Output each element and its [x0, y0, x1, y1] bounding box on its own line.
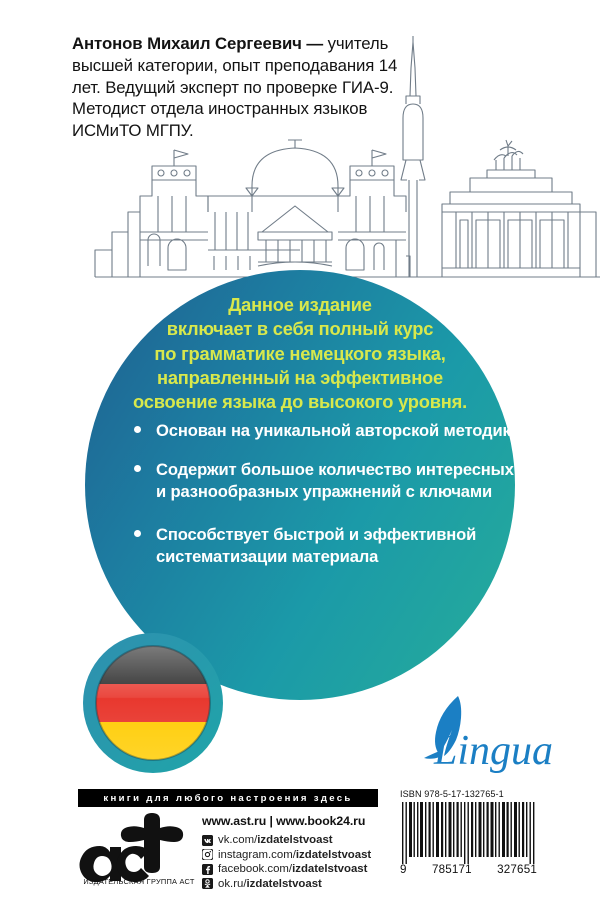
social-handle: izdatelstvoast	[247, 878, 322, 890]
ok-icon	[202, 878, 213, 889]
headline-line: направленный на эффективное	[60, 366, 540, 390]
barcode	[400, 802, 537, 864]
isbn-block: ISBN 978-5-17-132765-1	[400, 789, 540, 876]
social-handle: izdatelstvoast	[292, 863, 367, 875]
social-prefix: vk.com/	[218, 834, 257, 846]
social-prefix: facebook.com/	[218, 863, 292, 875]
social-link-instagram[interactable]: instagram.com/izdatelstvoast	[202, 849, 432, 861]
headline-line: включает в себя полный курс	[60, 317, 540, 341]
publisher-links: www.ast.ru | www.book24.ru vk.com/izdate…	[202, 814, 432, 892]
list-item: Содержит большое количество интересных и…	[128, 459, 528, 502]
headline-line: по грамматике немецкого языка,	[60, 342, 540, 366]
website-urls[interactable]: www.ast.ru | www.book24.ru	[202, 814, 432, 828]
social-prefix: instagram.com/	[218, 849, 296, 861]
list-item: Основан на уникальной авторской методике	[128, 420, 528, 441]
isbn-label: ISBN 978-5-17-132765-1	[400, 789, 540, 799]
vk-icon	[202, 835, 213, 846]
social-handle: izdatelstvoast	[296, 849, 371, 861]
promo-headline: Данное издание включает в себя полный ку…	[60, 293, 540, 415]
social-link-vk[interactable]: vk.com/izdatelstvoast	[202, 834, 432, 846]
headline-line: Данное издание	[60, 293, 540, 317]
barcode-digits: 9 785171 327651	[400, 863, 537, 876]
publisher-banner: книги для любого настроения здесь	[78, 789, 378, 807]
social-link-ok[interactable]: ok.ru/izdatelstvoast	[202, 878, 432, 890]
instagram-icon	[202, 849, 213, 860]
promo-bullets: Основан на уникальной авторской методике…	[128, 420, 528, 585]
barcode-digit-right: 327651	[497, 863, 537, 876]
lingua-logo: Lingua	[406, 688, 566, 778]
headline-line: освоение языка до высокого уровня.	[60, 390, 540, 414]
german-flag-badge	[78, 628, 228, 778]
barcode-digit-mid: 785171	[432, 863, 472, 876]
social-handle: izdatelstvoast	[257, 834, 332, 846]
facebook-icon	[202, 864, 213, 875]
ast-logo-caption: ИЗДАТЕЛЬСКАЯ ГРУППА АСТ	[78, 877, 200, 886]
social-link-facebook[interactable]: facebook.com/izdatelstvoast	[202, 863, 432, 875]
list-item: Способствует быстрой и эффективной систе…	[128, 524, 528, 567]
social-prefix: ok.ru/	[218, 878, 247, 890]
book-back-cover: Антонов Михаил Сергеевич — учитель высше…	[0, 0, 600, 921]
barcode-digit-left: 9	[400, 863, 407, 876]
lingua-wordmark: Lingua	[433, 728, 553, 774]
